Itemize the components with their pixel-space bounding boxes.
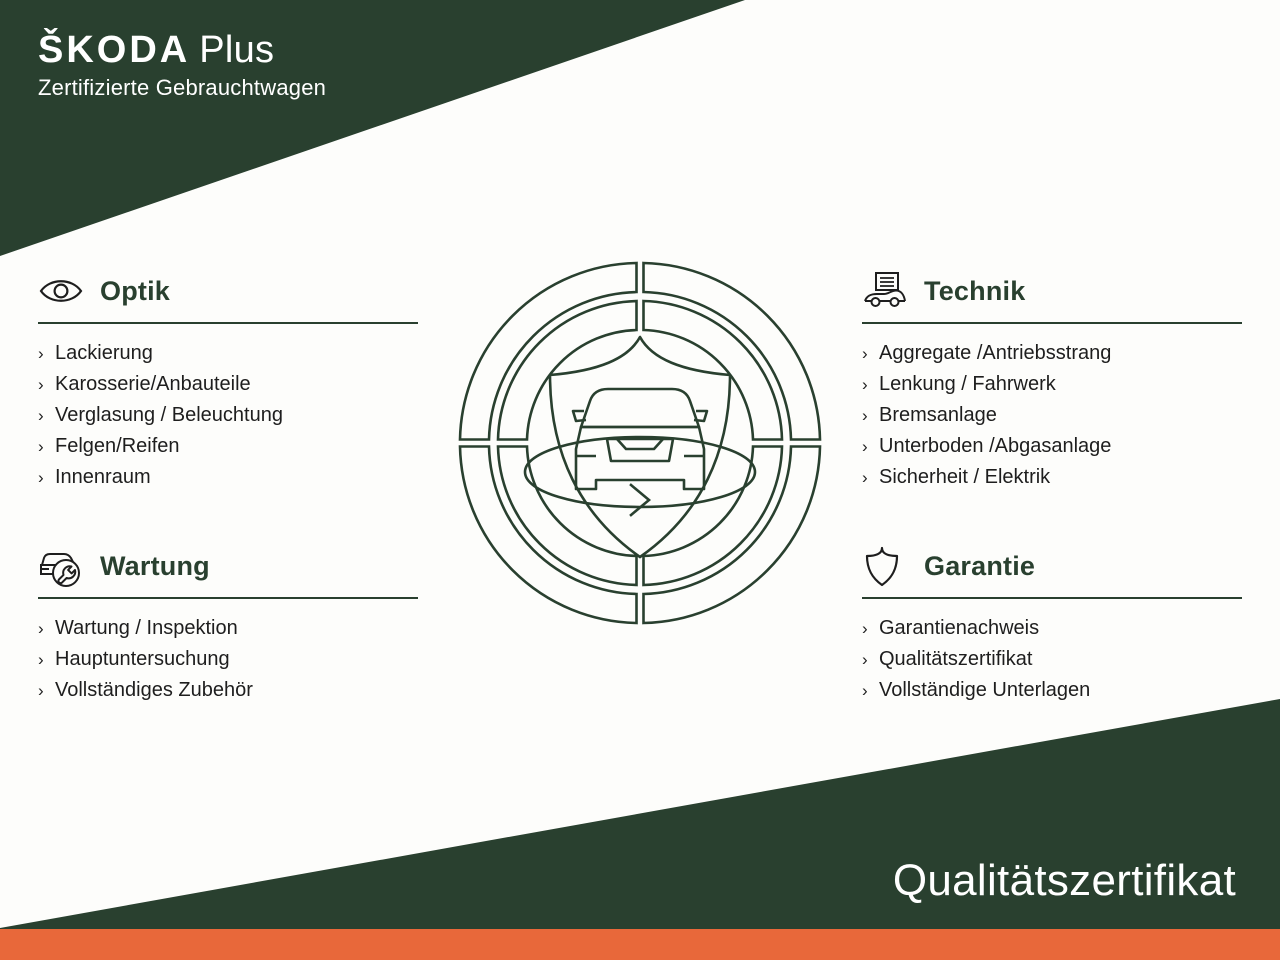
chevron-right-icon: ›: [862, 400, 879, 431]
list-item-label: Qualitätszertifikat: [879, 644, 1032, 675]
shield-icon: [862, 545, 910, 587]
car-shield-orbit-emblem: [450, 253, 830, 633]
list-item: ›Karosserie/Anbauteile: [38, 369, 418, 400]
list-item-label: Verglasung / Beleuchtung: [55, 400, 283, 431]
list-item-label: Sicherheit / Elektrik: [879, 462, 1050, 493]
list-item: ›Sicherheit / Elektrik: [862, 462, 1242, 493]
section-garantie: Garantie ›Garantienachweis ›Qualitätszer…: [862, 543, 1242, 706]
section-technik-list: ›Aggregate /Antriebsstrang ›Lenkung / Fa…: [862, 324, 1242, 493]
list-item-label: Bremsanlage: [879, 400, 997, 431]
list-item-label: Vollständiges Zubehör: [55, 675, 253, 706]
list-item-label: Garantienachweis: [879, 613, 1039, 644]
chevron-right-icon: ›: [862, 675, 879, 706]
list-item-label: Lenkung / Fahrwerk: [879, 369, 1056, 400]
chevron-right-icon: ›: [862, 462, 879, 493]
section-garantie-list: ›Garantienachweis ›Qualitätszertifikat ›…: [862, 599, 1242, 706]
certificate-page: ŠKODAPlus Zertifizierte Gebrauchtwagen O…: [0, 0, 1280, 960]
bottom-orange-bar: [0, 929, 1280, 960]
list-item: ›Garantienachweis: [862, 613, 1242, 644]
brand-name: ŠKODA: [38, 29, 190, 71]
chevron-right-icon: ›: [38, 675, 55, 706]
list-item: ›Qualitätszertifikat: [862, 644, 1242, 675]
chevron-right-icon: ›: [862, 369, 879, 400]
section-optik-header: Optik: [38, 268, 418, 314]
chevron-right-icon: ›: [38, 644, 55, 675]
list-item: ›Unterboden /Abgasanlage: [862, 431, 1242, 462]
list-item-label: Unterboden /Abgasanlage: [879, 431, 1111, 462]
car-document-icon: [862, 270, 910, 312]
section-optik-title: Optik: [100, 276, 170, 307]
chevron-right-icon: ›: [862, 644, 879, 675]
list-item: ›Verglasung / Beleuchtung: [38, 400, 418, 431]
list-item: ›Vollständiges Zubehör: [38, 675, 418, 706]
brand-logo: ŠKODAPlus Zertifizierte Gebrauchtwagen: [38, 28, 326, 102]
brand-logo-line1: ŠKODAPlus: [38, 28, 326, 72]
section-optik: Optik ›Lackierung ›Karosserie/Anbauteile…: [38, 268, 418, 493]
chevron-right-icon: ›: [862, 613, 879, 644]
list-item-label: Hauptuntersuchung: [55, 644, 230, 675]
list-item-label: Aggregate /Antriebsstrang: [879, 338, 1111, 369]
chevron-right-icon: ›: [38, 431, 55, 462]
section-technik: Technik ›Aggregate /Antriebsstrang ›Lenk…: [862, 268, 1242, 493]
list-item: ›Felgen/Reifen: [38, 431, 418, 462]
list-item: ›Lackierung: [38, 338, 418, 369]
section-wartung-title: Wartung: [100, 551, 210, 582]
section-garantie-title: Garantie: [924, 551, 1035, 582]
list-item-label: Innenraum: [55, 462, 151, 493]
section-wartung-header: Wartung: [38, 543, 418, 589]
section-wartung-list: ›Wartung / Inspektion ›Hauptuntersuchung…: [38, 599, 418, 706]
list-item: ›Hauptuntersuchung: [38, 644, 418, 675]
section-technik-header: Technik: [862, 268, 1242, 314]
chevron-right-icon: ›: [38, 613, 55, 644]
section-garantie-header: Garantie: [862, 543, 1242, 589]
chevron-right-icon: ›: [862, 431, 879, 462]
section-wartung: Wartung ›Wartung / Inspektion ›Hauptunte…: [38, 543, 418, 706]
footer-caption: Qualitätszertifikat: [893, 856, 1236, 906]
arrow-icon: [631, 485, 649, 515]
list-item-label: Karosserie/Anbauteile: [55, 369, 251, 400]
section-optik-list: ›Lackierung ›Karosserie/Anbauteile ›Verg…: [38, 324, 418, 493]
chevron-right-icon: ›: [38, 400, 55, 431]
list-item: ›Lenkung / Fahrwerk: [862, 369, 1242, 400]
list-item: ›Innenraum: [38, 462, 418, 493]
list-item-label: Vollständige Unterlagen: [879, 675, 1090, 706]
list-item: ›Bremsanlage: [862, 400, 1242, 431]
list-item-label: Wartung / Inspektion: [55, 613, 238, 644]
eye-icon: [38, 270, 86, 312]
brand-tagline: Zertifizierte Gebrauchtwagen: [38, 74, 326, 102]
list-item: ›Aggregate /Antriebsstrang: [862, 338, 1242, 369]
section-technik-title: Technik: [924, 276, 1025, 307]
chevron-right-icon: ›: [38, 338, 55, 369]
list-item: ›Vollständige Unterlagen: [862, 675, 1242, 706]
chevron-right-icon: ›: [38, 369, 55, 400]
chevron-right-icon: ›: [38, 462, 55, 493]
car-wrench-icon: [38, 545, 86, 587]
list-item: ›Wartung / Inspektion: [38, 613, 418, 644]
brand-suffix: Plus: [199, 29, 274, 71]
list-item-label: Lackierung: [55, 338, 153, 369]
chevron-right-icon: ›: [862, 338, 879, 369]
list-item-label: Felgen/Reifen: [55, 431, 180, 462]
